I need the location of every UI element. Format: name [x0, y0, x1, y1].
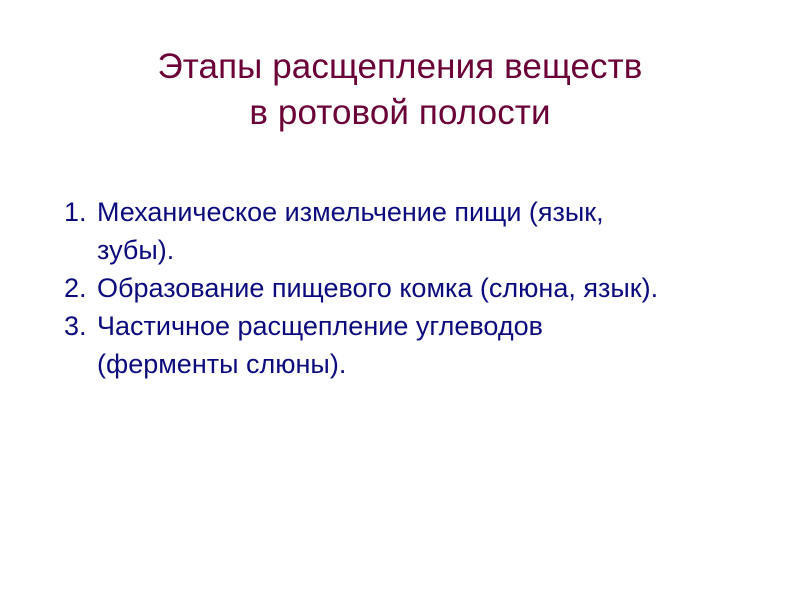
- page-title: Этапы расщепления веществ в ротовой поло…: [60, 44, 740, 136]
- list-item-text: Механическое измельчение пищи (язык, зуб…: [97, 193, 674, 269]
- list-item: Частичное расщепление углеводов (фермент…: [64, 307, 674, 383]
- list-item-text: Частичное расщепление углеводов (фермент…: [97, 307, 674, 383]
- list-item: Механическое измельчение пищи (язык, зуб…: [64, 193, 674, 269]
- numbered-list: Механическое измельчение пищи (язык, зуб…: [64, 193, 674, 383]
- slide-canvas: Этапы расщепления веществ в ротовой поло…: [0, 0, 800, 600]
- slide-body: Механическое измельчение пищи (язык, зуб…: [64, 193, 674, 383]
- list-item-text: Образование пищевого комка (слюна, язык)…: [97, 269, 674, 307]
- list-item: Образование пищевого комка (слюна, язык)…: [64, 269, 674, 307]
